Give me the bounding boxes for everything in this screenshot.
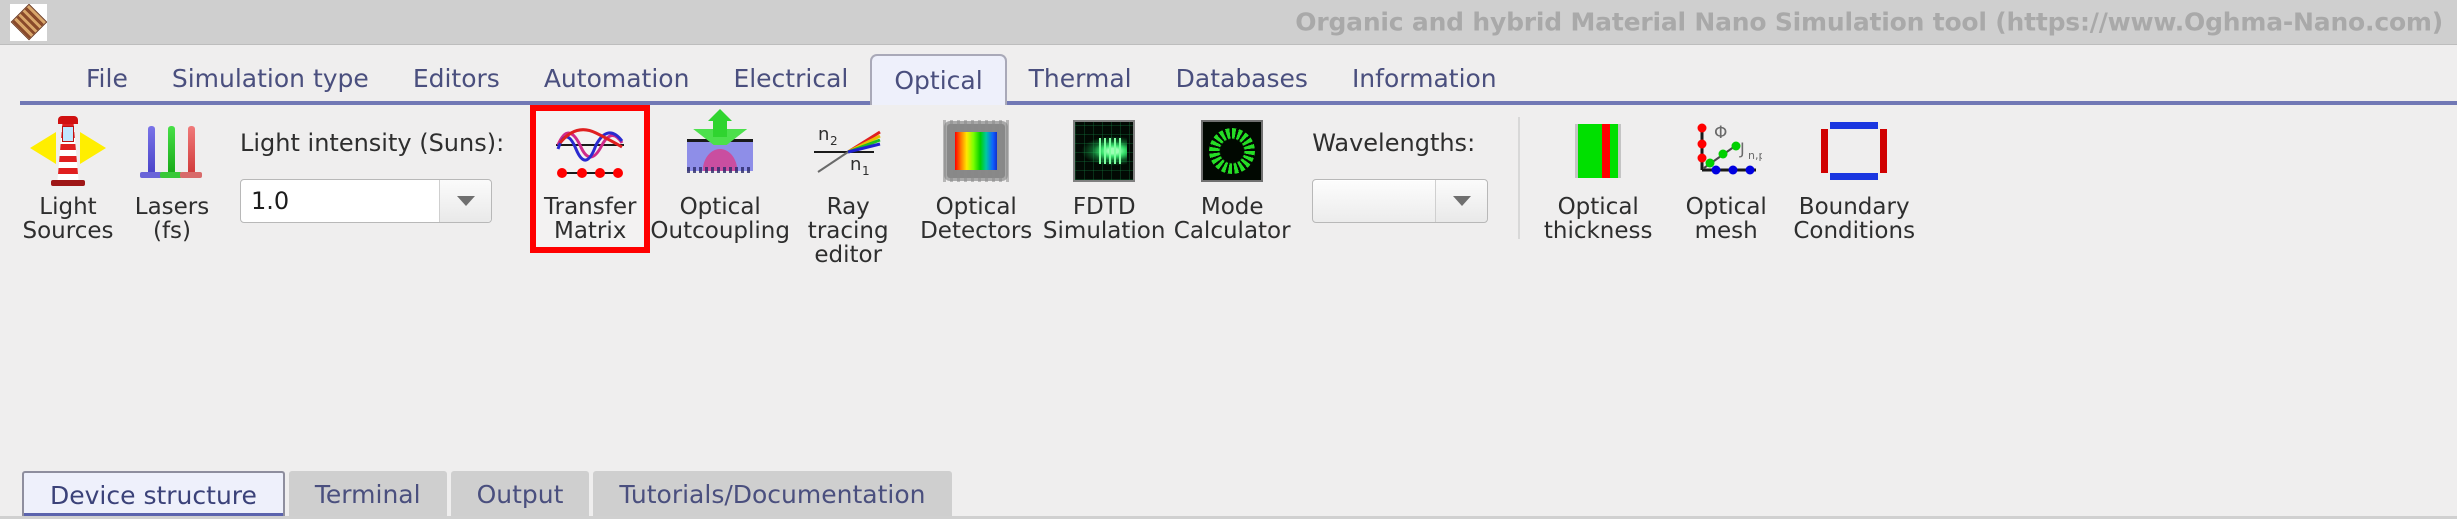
- menu-item-file[interactable]: File: [64, 64, 150, 101]
- boundary-conditions-icon: [1816, 113, 1892, 189]
- toolbar-button-optical-mesh[interactable]: Φ J n,p Optical mesh: [1662, 105, 1790, 243]
- chevron-down-icon[interactable]: [439, 180, 491, 222]
- wavelengths-group: Wavelengths:: [1312, 105, 1488, 223]
- svg-text:n: n: [818, 124, 829, 145]
- lighthouse-icon: [30, 113, 106, 189]
- menu-item-thermal[interactable]: Thermal: [1007, 64, 1154, 101]
- toolbar-button-light-sources[interactable]: Light Sources: [16, 105, 120, 243]
- svg-text:2: 2: [830, 134, 838, 148]
- toolbar-button-transfer-matrix[interactable]: Transfer Matrix: [530, 105, 650, 253]
- optical-outcoupling-icon: [682, 113, 758, 189]
- optical-mesh-icon: Φ J n,p: [1688, 113, 1764, 189]
- toolbar-label-optical-thickness: Optical thickness: [1544, 195, 1653, 243]
- application-window: Organic and hybrid Material Nano Simulat…: [0, 0, 2457, 519]
- svg-text:1: 1: [862, 164, 870, 178]
- wavelengths-combobox[interactable]: [1312, 179, 1488, 223]
- mode-calculator-icon: [1194, 113, 1270, 189]
- menu-item-optical[interactable]: Optical: [870, 54, 1006, 105]
- optical-toolbar: Light Sources Lasers (fs) Light intensit…: [0, 105, 2457, 275]
- window-title: Organic and hybrid Material Nano Simulat…: [1295, 8, 2443, 37]
- toolbar-label-transfer-matrix: Transfer Matrix: [544, 195, 636, 243]
- bottom-tab-tutorials-documentation[interactable]: Tutorials/Documentation: [593, 471, 951, 519]
- optical-thickness-icon: [1560, 113, 1636, 189]
- menu-item-electrical[interactable]: Electrical: [711, 64, 870, 101]
- svg-text:Φ: Φ: [1714, 123, 1727, 143]
- toolbar-label-optical-outcoupling: Optical Outcoupling: [650, 195, 790, 243]
- menu-item-information[interactable]: Information: [1330, 64, 1519, 101]
- fdtd-icon: [1066, 113, 1142, 189]
- toolbar-button-lasers[interactable]: Lasers (fs): [120, 105, 224, 243]
- light-intensity-label: Light intensity (Suns):: [240, 129, 504, 157]
- toolbar-label-light-sources: Light Sources: [23, 195, 114, 243]
- bottom-tab-bar: Device structure Terminal Output Tutoria…: [0, 455, 2457, 519]
- svg-text:n: n: [850, 154, 861, 175]
- ray-tracing-icon: n 2 n 1: [810, 113, 886, 189]
- transfer-matrix-icon: [552, 113, 628, 189]
- toolbar-label-boundary-conditions: Boundary Conditions: [1793, 195, 1915, 243]
- menu-item-editors[interactable]: Editors: [391, 64, 522, 101]
- light-intensity-value[interactable]: 1.0: [241, 187, 439, 215]
- optical-detector-icon: [938, 113, 1014, 189]
- title-bar: Organic and hybrid Material Nano Simulat…: [0, 0, 2457, 45]
- toolbar-button-boundary-conditions[interactable]: Boundary Conditions: [1790, 105, 1918, 243]
- menu-bar: File Simulation type Editors Automation …: [0, 45, 2457, 105]
- toolbar-label-optical-detectors: Optical Detectors: [920, 195, 1032, 243]
- svg-text:n,p: n,p: [1748, 149, 1762, 162]
- oghma-crystal-icon: [10, 4, 47, 41]
- toolbar-button-ray-tracing-editor[interactable]: n 2 n 1 Ray tracing editor: [784, 105, 912, 267]
- toolbar-button-mode-calculator[interactable]: Mode Calculator: [1168, 105, 1296, 243]
- chevron-down-icon[interactable]: [1435, 180, 1487, 222]
- bottom-tab-output[interactable]: Output: [451, 471, 590, 519]
- toolbar-separator: [1518, 117, 1520, 239]
- wavelengths-label: Wavelengths:: [1312, 129, 1488, 157]
- bottom-tab-device-structure[interactable]: Device structure: [22, 471, 285, 519]
- menu-item-simulation-type[interactable]: Simulation type: [150, 64, 391, 101]
- toolbar-label-fdtd-simulation: FDTD Simulation: [1043, 195, 1166, 243]
- toolbar-label-ray-tracing-editor: Ray tracing editor: [784, 195, 912, 267]
- toolbar-label-optical-mesh: Optical mesh: [1686, 195, 1767, 243]
- lasers-icon: [134, 113, 210, 189]
- svg-text:J: J: [1739, 139, 1745, 158]
- toolbar-label-lasers: Lasers (fs): [135, 195, 209, 243]
- toolbar-button-optical-outcoupling[interactable]: Optical Outcoupling: [656, 105, 784, 243]
- light-intensity-combobox[interactable]: 1.0: [240, 179, 492, 223]
- menu-item-automation[interactable]: Automation: [522, 64, 712, 101]
- menu-item-databases[interactable]: Databases: [1154, 64, 1330, 101]
- toolbar-button-optical-detectors[interactable]: Optical Detectors: [912, 105, 1040, 243]
- toolbar-button-optical-thickness[interactable]: Optical thickness: [1534, 105, 1662, 243]
- toolbar-label-mode-calculator: Mode Calculator: [1174, 195, 1291, 243]
- light-intensity-group: Light intensity (Suns): 1.0: [240, 105, 504, 223]
- toolbar-button-fdtd-simulation[interactable]: FDTD Simulation: [1040, 105, 1168, 243]
- bottom-tab-terminal[interactable]: Terminal: [289, 471, 447, 519]
